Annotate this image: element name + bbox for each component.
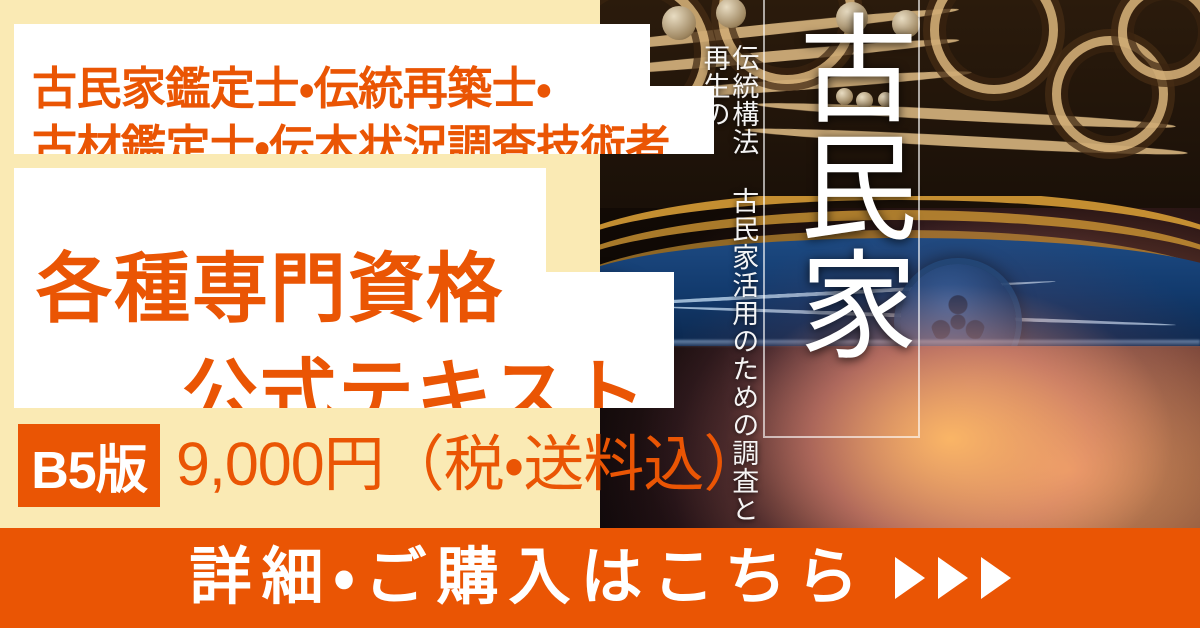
cta-label: 詳細・ご購入はこちら xyxy=(189,547,868,609)
price-text: 9,000円（税・送料込） xyxy=(176,434,763,495)
main-title-line-1: 各種専門資格 xyxy=(36,252,504,328)
cover-title: 古民家 xyxy=(772,8,912,362)
format-badge: B5版 xyxy=(18,424,160,507)
chevron-right-icon xyxy=(938,557,968,599)
chevron-right-icon xyxy=(895,557,925,599)
chevron-right-icon xyxy=(981,557,1011,599)
cta-bar[interactable]: 詳細・ご購入はこちら xyxy=(0,528,1200,628)
headline-panel: 古民家鑑定士・伝統再築士・ 古材鑑定士・伝木状況調査技術者 xyxy=(14,24,714,154)
cta-arrows xyxy=(895,557,1011,599)
banner-ad[interactable]: 古民家 伝統構法 古民家活用のための調査と再生の 古民家鑑定士・伝統再築士・ 古… xyxy=(0,0,1200,628)
headline-line-1: 古民家鑑定士・伝統再築士・ xyxy=(32,66,551,111)
